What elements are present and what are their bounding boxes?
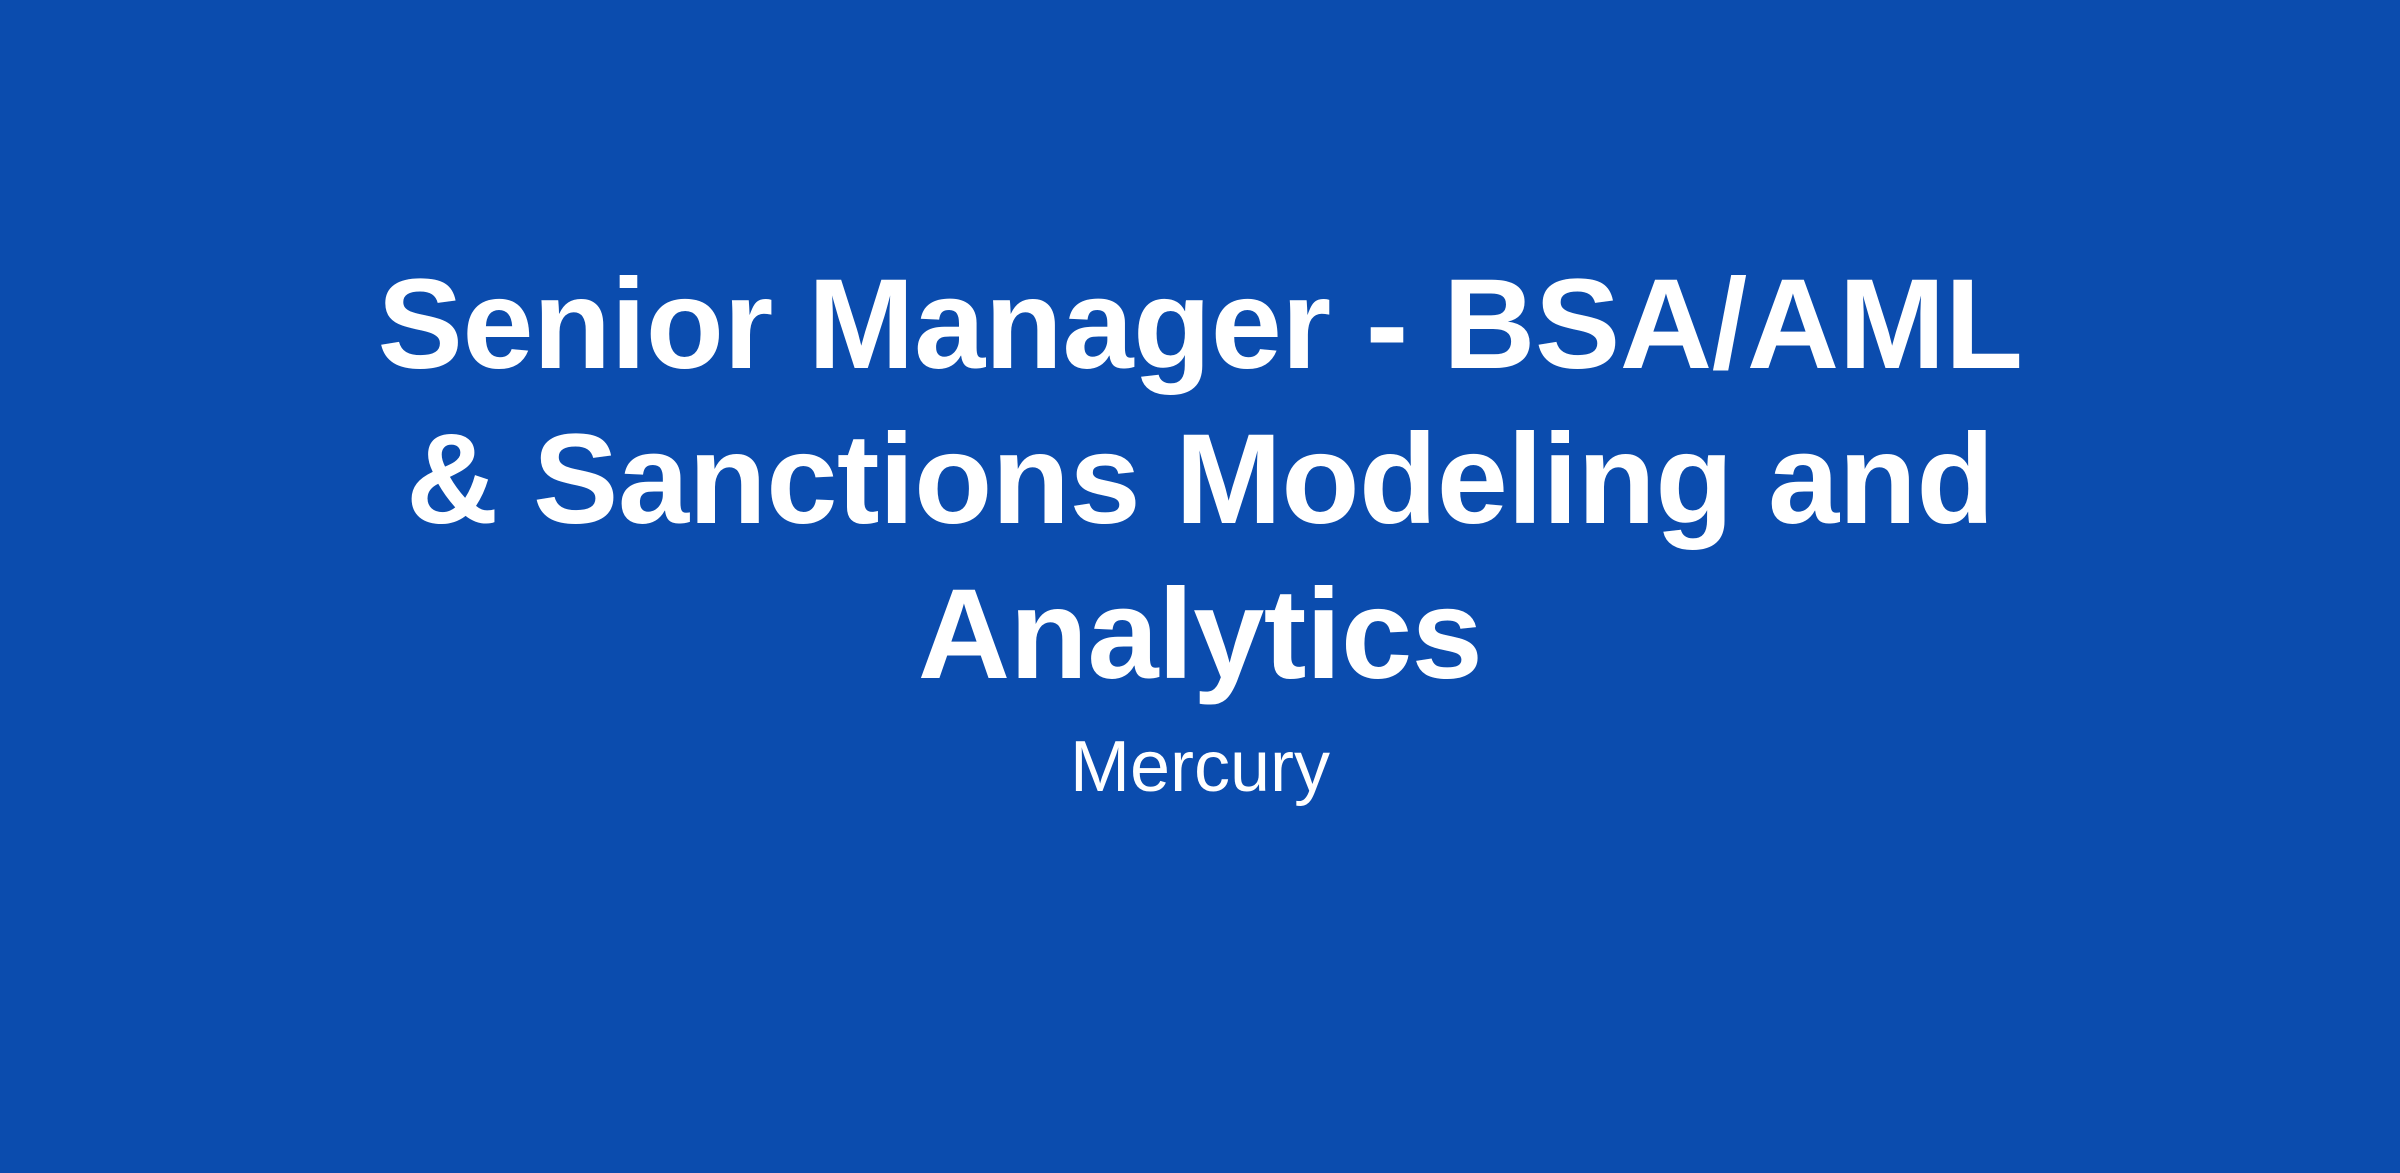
job-posting-card: Senior Manager - BSA/AML & Sanctions Mod… — [0, 0, 2400, 1173]
page-title: Senior Manager - BSA/AML & Sanctions Mod… — [340, 248, 2060, 713]
company-name: Mercury — [1070, 721, 1330, 815]
